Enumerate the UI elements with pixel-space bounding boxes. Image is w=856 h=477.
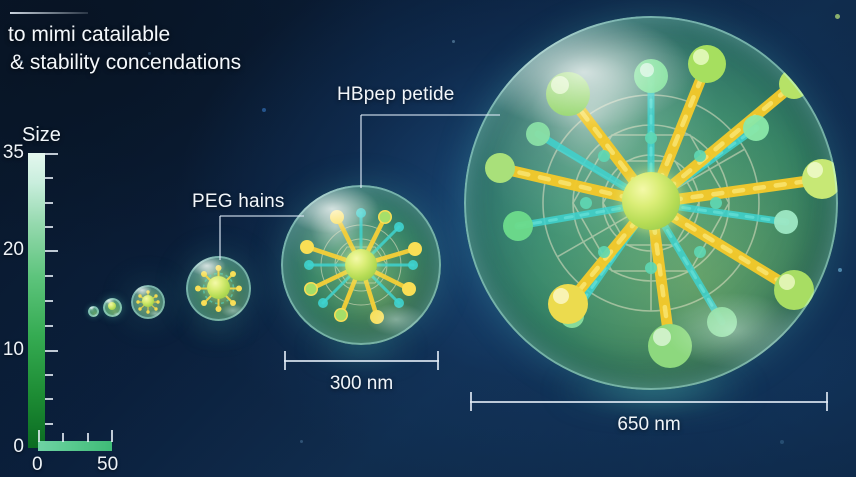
particle-3 [131, 285, 165, 319]
speck [835, 14, 840, 19]
particle-4 [186, 256, 251, 321]
axis-tick-minor [45, 325, 53, 327]
axis-tick-h [62, 433, 64, 442]
speck [780, 440, 784, 444]
speck [838, 268, 842, 272]
axis-tick-minor [45, 374, 53, 376]
particle-2 [103, 298, 122, 317]
axis-tick-minor [45, 300, 53, 302]
particle-6 [464, 16, 838, 390]
dim-cap-right [437, 351, 439, 370]
axis-label-h-start: 0 [32, 454, 43, 476]
axis-label-10: 10 [0, 339, 24, 361]
distance-gradient-bar [38, 441, 112, 451]
speck [452, 40, 455, 43]
particle-1 [88, 306, 99, 317]
axis-tick-minor [45, 202, 53, 204]
hbpep-peptide-label: HBpep petide [337, 84, 455, 106]
dim-rule [470, 401, 828, 403]
headline-block: to mimi catailable & stability concendat… [8, 12, 348, 77]
dim-rule [284, 360, 439, 362]
axis-tick-major [45, 350, 58, 352]
particle-5 [281, 185, 441, 345]
particle-core [345, 249, 377, 281]
axis-tick-h [111, 430, 113, 442]
speck [300, 440, 303, 443]
headline-line-2: & stability concendations [8, 49, 348, 77]
axis-tick-major [45, 250, 58, 252]
size-legend-title: Size [22, 124, 61, 147]
particle-shell [88, 306, 99, 317]
dimension-650nm: 650 nm [470, 392, 828, 436]
dimension-300nm: 300 nm [284, 351, 439, 395]
particle-core [108, 302, 116, 310]
particle-core [622, 172, 680, 230]
axis-tick-minor [45, 177, 53, 179]
dim-label: 650 nm [470, 414, 828, 436]
axis-label-35: 35 [0, 142, 24, 164]
axis-tick-h [87, 433, 89, 442]
size-gradient-bar [28, 153, 45, 448]
axis-tick-minor [45, 275, 53, 277]
axis-tick-minor [45, 226, 53, 228]
dim-cap-right [826, 392, 828, 411]
headline-rule [10, 12, 88, 14]
axis-tick-major [45, 153, 58, 155]
speck [262, 108, 266, 112]
axis-tick-h [38, 430, 40, 442]
axis-tick-minor [45, 398, 53, 400]
illustration-canvas: to mimi catailable & stability concendat… [0, 0, 856, 477]
axis-label-0: 0 [0, 436, 24, 458]
axis-label-20: 20 [0, 239, 24, 261]
particle-core [207, 276, 230, 299]
headline-line-1: to mimi catailable [8, 21, 348, 49]
dim-label: 300 nm [284, 373, 439, 395]
axis-label-h-end: 50 mm [97, 454, 129, 477]
axis-tick-minor [45, 423, 53, 425]
peg-chains-label: PEG hains [192, 191, 285, 213]
particle-core [142, 295, 154, 307]
